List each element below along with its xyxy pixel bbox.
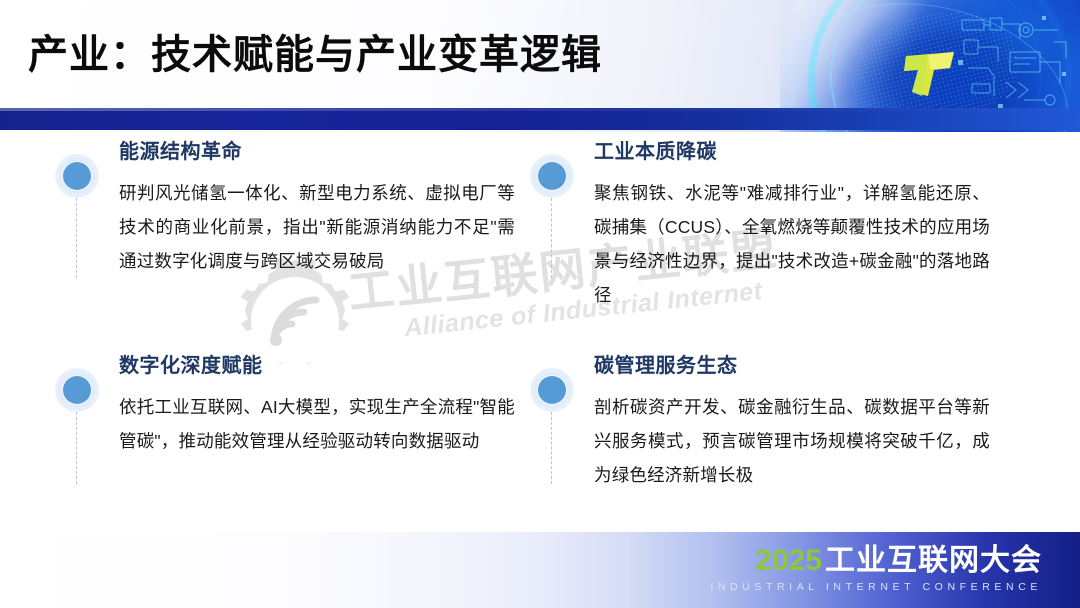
block-body: 工业本质降碳 聚焦钢铁、水泥等"难减排行业"，详解氢能还原、碳捕集（CCUS）、… — [594, 140, 990, 313]
block-text: 剖析碳资产开发、碳金融衍生品、碳数据平台等新兴服务模式，预言碳管理市场规模将突破… — [594, 390, 990, 492]
block-heading: 能源结构革命 — [119, 140, 515, 164]
bullet-connector-line — [551, 412, 552, 484]
page-title: 产业：技术赋能与产业变革逻辑 — [28, 22, 602, 80]
bullet-marker — [55, 154, 99, 198]
block-text: 聚焦钢铁、水泥等"难减排行业"，详解氢能还原、碳捕集（CCUS）、全氧燃烧等颠覆… — [594, 176, 990, 313]
bullet-marker — [530, 368, 574, 412]
block-heading: 数字化深度赋能 — [119, 354, 515, 378]
circuit-pattern-icon — [954, 12, 1074, 120]
bullet-dot-icon — [538, 162, 566, 190]
content-block-energy-structure: 能源结构革命 研判风光储氢一体化、新型电力系统、虚拟电厂等技术的商业化前景，指出… — [55, 140, 515, 278]
content-block-digital-empowerment: 数字化深度赋能 依托工业互联网、AI大模型，实现生产全流程"智能管碳"，推动能效… — [55, 354, 515, 458]
conference-logo-year: 2025 — [755, 544, 822, 577]
block-body: 碳管理服务生态 剖析碳资产开发、碳金融衍生品、碳数据平台等新兴服务模式，预言碳管… — [594, 354, 990, 492]
slide-header: 产业：技术赋能与产业变革逻辑 — [0, 0, 1080, 132]
bullet-marker — [55, 368, 99, 412]
bullet-dot-icon — [538, 376, 566, 404]
content-block-industrial-decarbonization: 工业本质降碳 聚焦钢铁、水泥等"难减排行业"，详解氢能还原、碳捕集（CCUS）、… — [530, 140, 990, 313]
conference-logo: 2025工业互联网大会 INDUSTRIAL INTERNET CONFEREN… — [710, 546, 1042, 593]
bullet-dot-icon — [63, 162, 91, 190]
bullet-connector-line — [551, 198, 552, 278]
slide-root: 产业：技术赋能与产业变革逻辑 工业互联网产业联盟 Alliance of Ind… — [0, 0, 1080, 608]
bullet-connector-line — [76, 412, 77, 484]
block-text: 依托工业互联网、AI大模型，实现生产全流程"智能管碳"，推动能效管理从经验驱动转… — [119, 390, 515, 458]
slide-footer: 2025工业互联网大会 INDUSTRIAL INTERNET CONFEREN… — [0, 532, 1080, 608]
conference-logo-main: 2025工业互联网大会 — [710, 546, 1042, 576]
bullet-connector-line — [76, 198, 77, 278]
content-area: 能源结构革命 研判风光储氢一体化、新型电力系统、虚拟电厂等技术的商业化前景，指出… — [0, 132, 1080, 532]
block-body: 数字化深度赋能 依托工业互联网、AI大模型，实现生产全流程"智能管碳"，推动能效… — [119, 354, 515, 458]
header-divider-bar — [0, 108, 1080, 130]
conference-logo-cn: 工业互联网大会 — [825, 544, 1042, 577]
bullet-dot-icon — [63, 376, 91, 404]
block-heading: 碳管理服务生态 — [594, 354, 990, 378]
content-block-carbon-management-ecosystem: 碳管理服务生态 剖析碳资产开发、碳金融衍生品、碳数据平台等新兴服务模式，预言碳管… — [530, 354, 990, 492]
block-heading: 工业本质降碳 — [594, 140, 990, 164]
block-body: 能源结构革命 研判风光储氢一体化、新型电力系统、虚拟电厂等技术的商业化前景，指出… — [119, 140, 515, 278]
bullet-marker — [530, 154, 574, 198]
block-text: 研判风光储氢一体化、新型电力系统、虚拟电厂等技术的商业化前景，指出"新能源消纳能… — [119, 176, 515, 278]
conference-t-logo-icon — [898, 46, 962, 102]
conference-logo-subtitle: INDUSTRIAL INTERNET CONFERENCE — [710, 581, 1042, 593]
